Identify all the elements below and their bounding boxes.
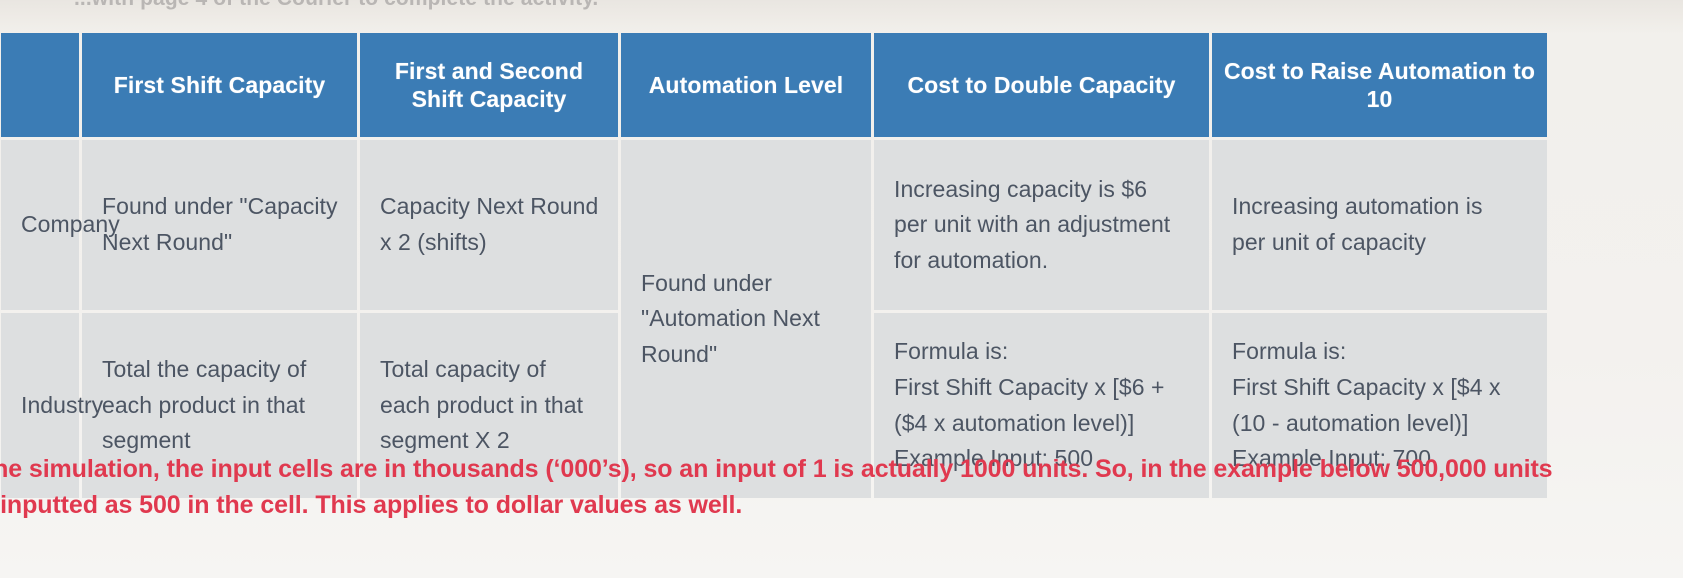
formula-raise-line-2: First Shift Capacity x [$4 x: [1232, 370, 1529, 406]
column-header-first-and-second-shift-capacity: First and Second Shift Capacity: [360, 33, 618, 137]
cost-raise-line-1: Increasing automation is: [1232, 189, 1529, 225]
formula-double-line-2: First Shift Capacity x [$6 +: [894, 370, 1191, 406]
column-header-blank: [1, 33, 79, 137]
formula-raise-line-3: (10 - automation level)]: [1232, 406, 1529, 442]
thousands-note: In the simulation, the input cells are i…: [0, 452, 1683, 523]
column-header-automation-level: Automation Level: [621, 33, 871, 137]
column-header-cost-to-double-capacity: Cost to Double Capacity: [874, 33, 1209, 137]
row-label-company: Company: [1, 140, 79, 310]
table-body: Company Found under "Capacity Next Round…: [1, 140, 1547, 498]
cut-off-heading-text: ...with page 4 of the Courier to complet…: [74, 0, 1683, 11]
cell-company-first-shift-capacity: Found under "Capacity Next Round": [82, 140, 357, 310]
cost-raise-line-2: per unit of capacity: [1232, 225, 1529, 261]
cost-double-line-3: for automation.: [894, 243, 1191, 279]
cut-off-heading: ...with page 4 of the Courier to complet…: [0, 0, 1683, 14]
cost-double-line-2: per unit with an adjustment: [894, 207, 1191, 243]
formula-raise-line-1: Formula is:: [1232, 334, 1529, 370]
thousands-note-line-1: In the simulation, the input cells are i…: [0, 452, 1683, 488]
table-row: Company Found under "Capacity Next Round…: [1, 140, 1547, 310]
cell-company-cost-to-raise-automation: Increasing automation is per unit of cap…: [1212, 140, 1547, 310]
column-header-first-shift-capacity: First Shift Capacity: [82, 33, 357, 137]
table-header-row: First Shift Capacity First and Second Sh…: [1, 33, 1547, 137]
column-header-cost-to-raise-automation: Cost to Raise Automation to 10: [1212, 33, 1547, 137]
thousands-note-line-2: are inputted as 500 in the cell. This ap…: [0, 488, 1683, 524]
cost-double-line-1: Increasing capacity is $6: [894, 172, 1191, 208]
capacity-reference-table: First Shift Capacity First and Second Sh…: [0, 30, 1550, 501]
capacity-reference-table-wrapper: First Shift Capacity First and Second Sh…: [0, 30, 1683, 501]
table-header-row-group: First Shift Capacity First and Second Sh…: [1, 33, 1547, 137]
cell-company-cost-to-double-capacity: Increasing capacity is $6 per unit with …: [874, 140, 1209, 310]
formula-double-line-3: ($4 x automation level)]: [894, 406, 1191, 442]
formula-double-line-1: Formula is:: [894, 334, 1191, 370]
cell-automation-level: Found under "Automation Next Round": [621, 140, 871, 498]
cell-company-first-and-second-shift-capacity: Capacity Next Round x 2 (shifts): [360, 140, 618, 310]
